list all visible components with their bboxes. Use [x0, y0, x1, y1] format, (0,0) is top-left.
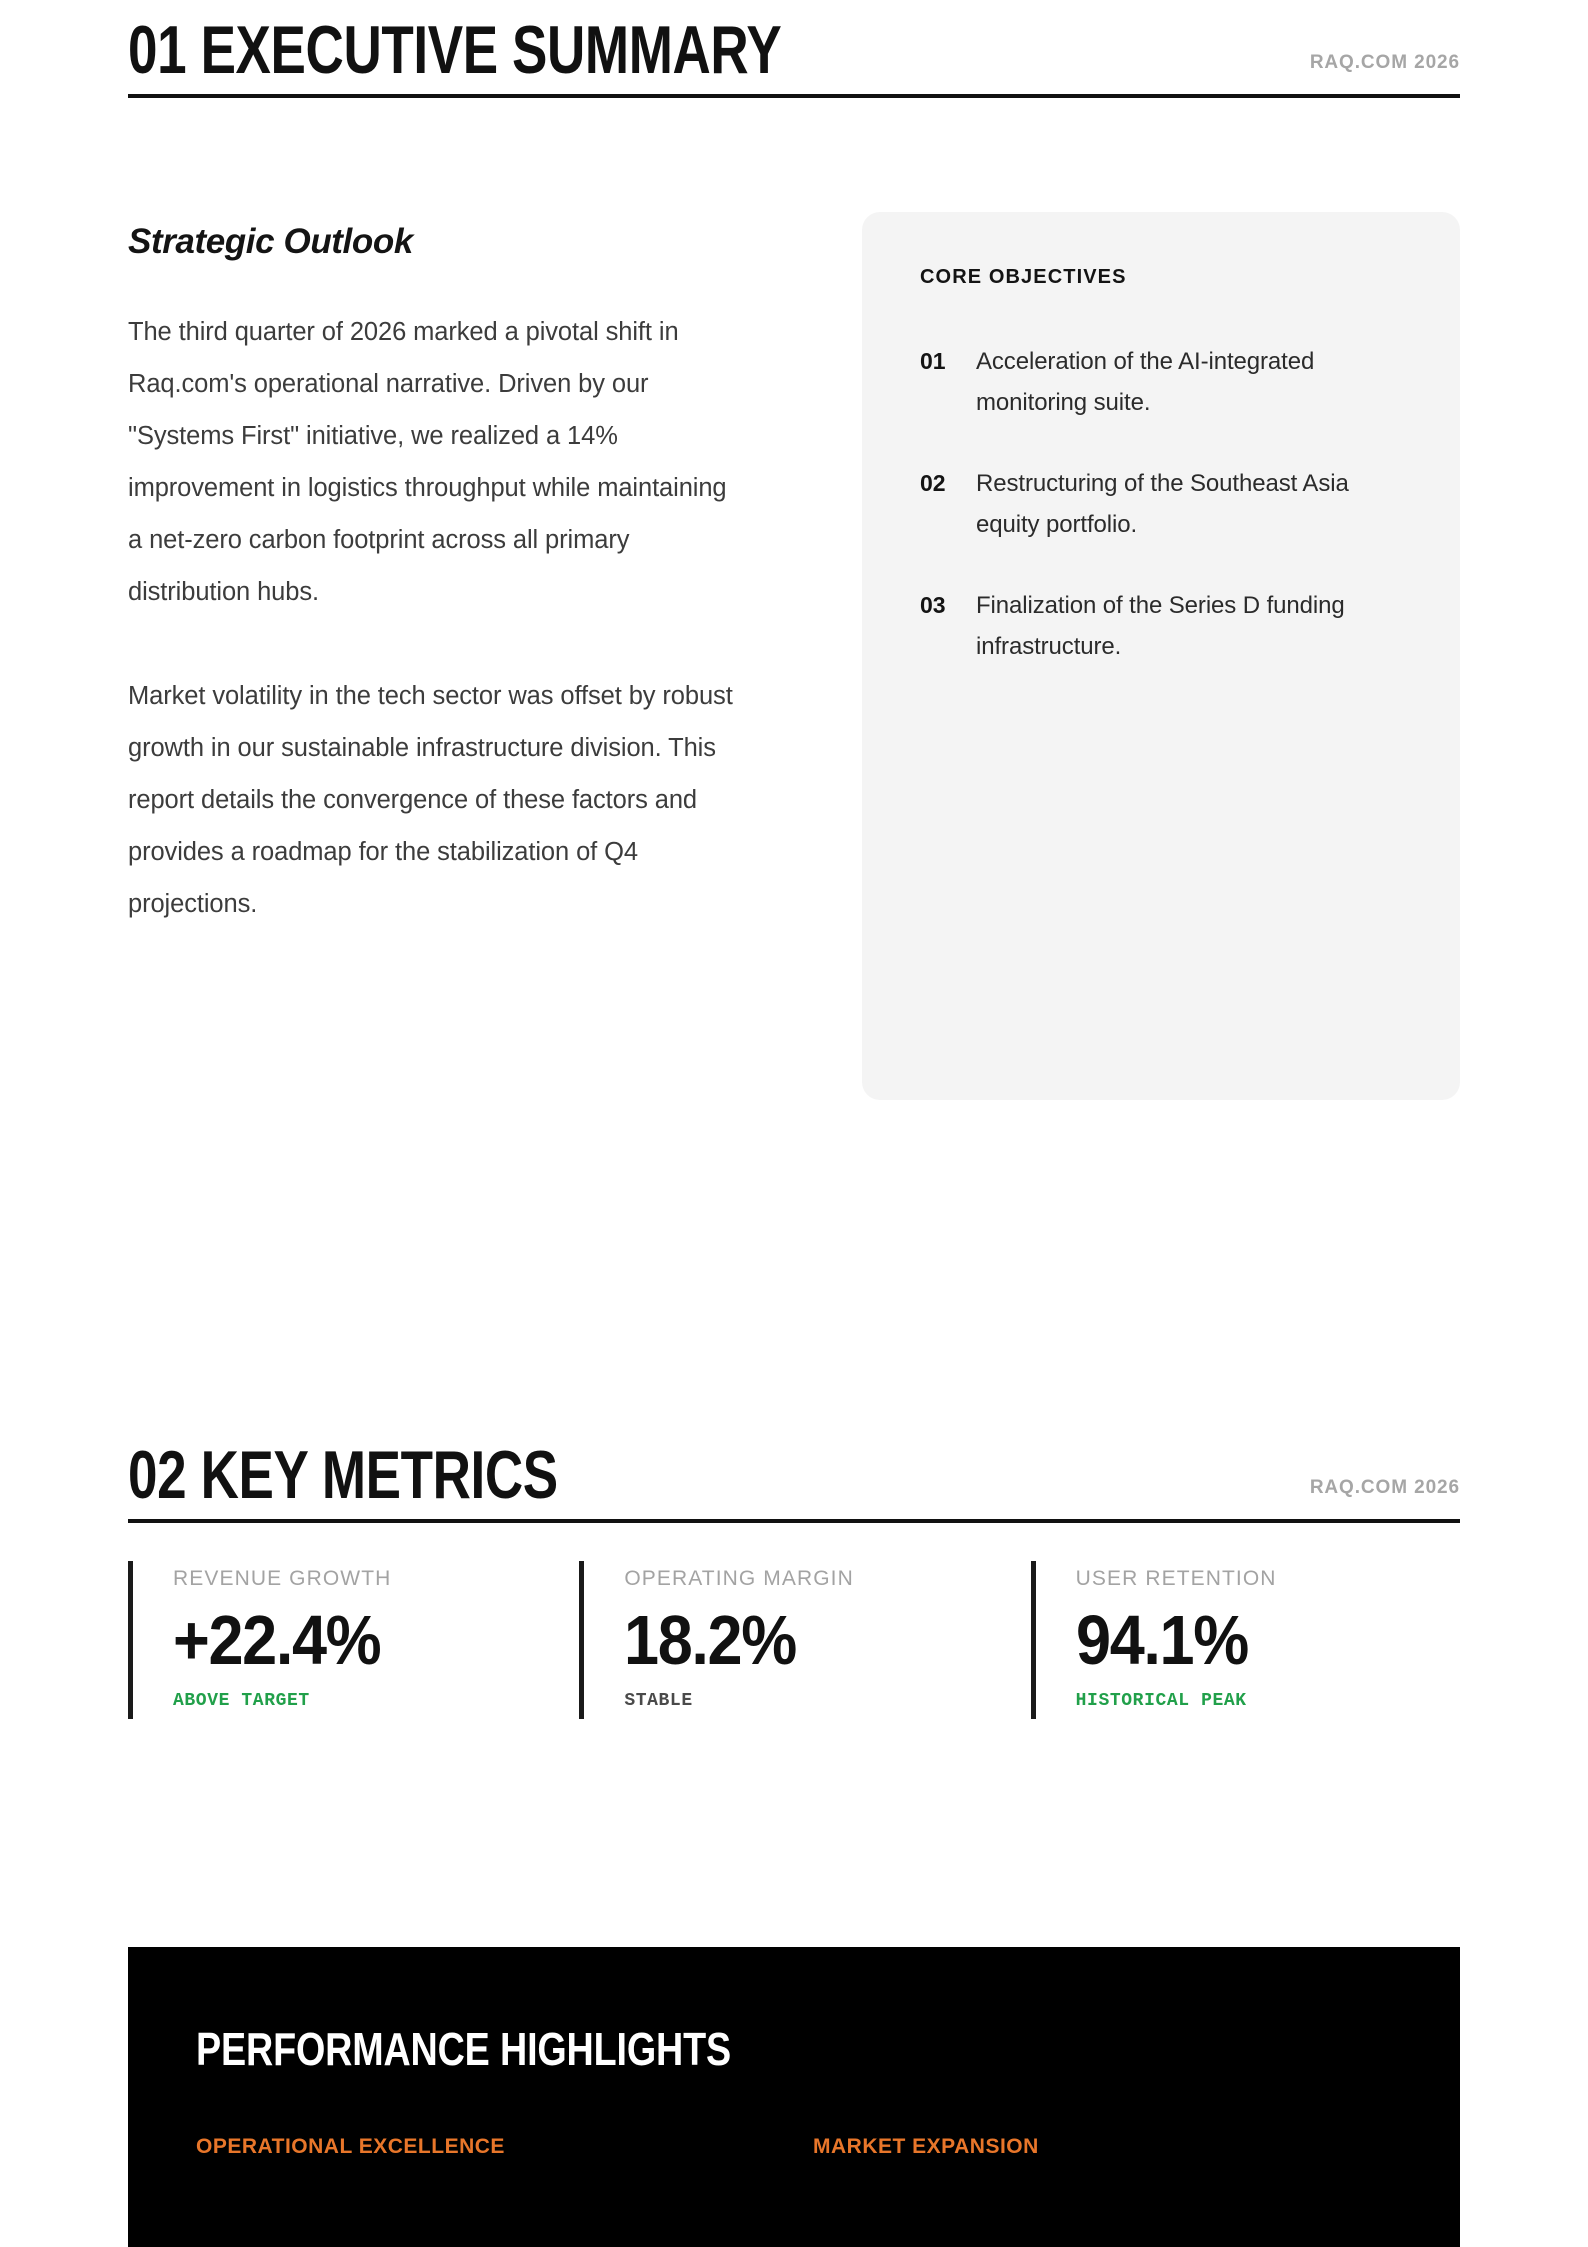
- highlight-column-market-expansion: MARKET EXPANSION: [813, 2135, 1392, 2159]
- metric-label-user-retention: USER RETENTION: [1076, 1567, 1460, 1591]
- core-objectives-title: CORE OBJECTIVES: [920, 266, 1402, 289]
- section-rule-02: [128, 1519, 1460, 1523]
- metric-value-operating-margin: 18.2%: [624, 1603, 970, 1677]
- metric-value-revenue-growth: +22.4%: [173, 1603, 519, 1677]
- core-objectives-card: CORE OBJECTIVES 01 Acceleration of the A…: [862, 212, 1460, 1100]
- objective-number-03: 03: [920, 585, 976, 667]
- document-page: 01 EXECUTIVE SUMMARY RAQ.COM 2026 Strate…: [128, 0, 1460, 2246]
- objective-item-02: 02 Restructuring of the Southeast Asia e…: [920, 463, 1402, 545]
- metric-label-operating-margin: OPERATING MARGIN: [624, 1567, 1008, 1591]
- objective-number-01: 01: [920, 341, 976, 423]
- section-rule-01: [128, 94, 1460, 98]
- objective-number-02: 02: [920, 463, 976, 545]
- objective-item-01: 01 Acceleration of the AI-integrated mon…: [920, 341, 1402, 423]
- summary-paragraph-2: Market volatility in the tech sector was…: [128, 670, 738, 930]
- page-title-section-02: 02 KEY METRICS: [128, 1441, 558, 1509]
- performance-highlights-title: PERFORMANCE HIGHLIGHTS: [196, 2025, 1177, 2073]
- section-stamp-02: RAQ.COM 2026: [1310, 1477, 1460, 1499]
- performance-highlights-panel: PERFORMANCE HIGHLIGHTS OPERATIONAL EXCEL…: [128, 1947, 1460, 2247]
- objective-item-03: 03 Finalization of the Series D funding …: [920, 585, 1402, 667]
- highlight-kicker-operational-excellence: OPERATIONAL EXCELLENCE: [196, 2135, 775, 2159]
- status-badge-user-retention: HISTORICAL PEAK: [1076, 1691, 1460, 1711]
- metric-card-revenue-growth: REVENUE GROWTH +22.4% ABOVE TARGET: [128, 1561, 557, 1719]
- status-badge-operating-margin: STABLE: [624, 1691, 1008, 1711]
- summary-paragraph-1: The third quarter of 2026 marked a pivot…: [128, 306, 738, 618]
- section-header-key-metrics: 02 KEY METRICS RAQ.COM 2026: [128, 1425, 1460, 1523]
- metric-card-user-retention: USER RETENTION 94.1% HISTORICAL PEAK: [1031, 1561, 1460, 1719]
- metrics-row: REVENUE GROWTH +22.4% ABOVE TARGET OPERA…: [128, 1561, 1460, 1719]
- lead-title-strategic-outlook: Strategic Outlook: [128, 222, 738, 262]
- performance-highlights-columns: OPERATIONAL EXCELLENCE MARKET EXPANSION: [196, 2135, 1392, 2159]
- objective-text-01: Acceleration of the AI-integrated monito…: [976, 341, 1402, 423]
- highlight-column-operational-excellence: OPERATIONAL EXCELLENCE: [196, 2135, 775, 2159]
- page-title-section-01: 01 EXECUTIVE SUMMARY: [128, 16, 781, 84]
- section-key-metrics: 02 KEY METRICS RAQ.COM 2026 REVENUE GROW…: [128, 1425, 1460, 1523]
- section-stamp-01: RAQ.COM 2026: [1310, 52, 1460, 74]
- metric-value-user-retention: 94.1%: [1076, 1603, 1422, 1677]
- objective-text-02: Restructuring of the Southeast Asia equi…: [976, 463, 1402, 545]
- metric-card-operating-margin: OPERATING MARGIN 18.2% STABLE: [579, 1561, 1008, 1719]
- metric-label-revenue-growth: REVENUE GROWTH: [173, 1567, 557, 1591]
- status-badge-revenue-growth: ABOVE TARGET: [173, 1691, 557, 1711]
- summary-columns: Strategic Outlook The third quarter of 2…: [128, 110, 1460, 222]
- highlight-kicker-market-expansion: MARKET EXPANSION: [813, 2135, 1392, 2159]
- summary-text-column: Strategic Outlook The third quarter of 2…: [128, 222, 738, 930]
- section-executive-summary: Strategic Outlook The third quarter of 2…: [128, 110, 1460, 222]
- objective-text-03: Finalization of the Series D funding inf…: [976, 585, 1402, 667]
- section-header-executive-summary: 01 EXECUTIVE SUMMARY RAQ.COM 2026: [128, 0, 1460, 98]
